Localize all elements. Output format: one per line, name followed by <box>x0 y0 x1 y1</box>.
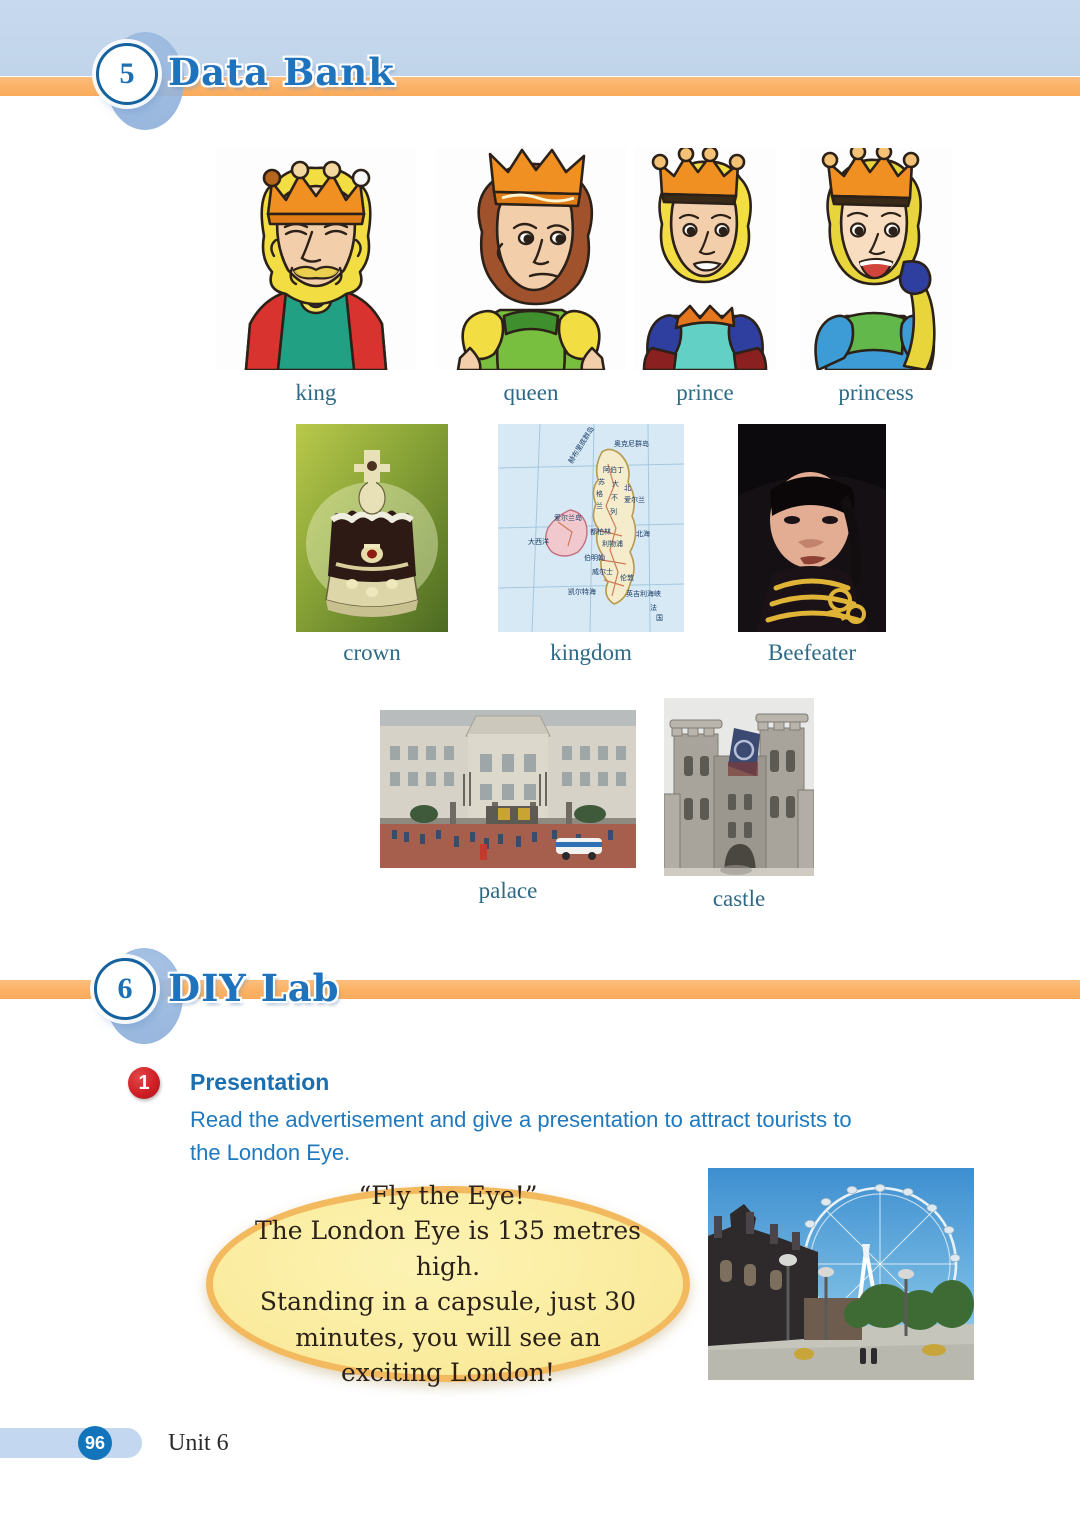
svg-text:国: 国 <box>656 614 663 622</box>
svg-text:北: 北 <box>624 484 631 492</box>
data-card-beefeater: Beefeater <box>738 424 886 632</box>
svg-text:大西洋: 大西洋 <box>528 537 549 546</box>
svg-text:格: 格 <box>596 489 603 498</box>
ad-line-4: minutes, you will see an <box>239 1320 657 1356</box>
section-header-diy-lab: 6 DIY Lab <box>0 940 1080 1040</box>
caption-queen: queen <box>436 380 626 406</box>
ad-line-5: exciting London! <box>239 1355 657 1391</box>
task-title-presentation: Presentation <box>190 1069 329 1096</box>
textbook-page: 5 Data Bank <box>0 0 1080 1526</box>
london-eye-photo <box>708 1168 974 1380</box>
ad-line-2: The London Eye is 135 metres high. <box>239 1213 657 1284</box>
caption-king: king <box>216 380 416 406</box>
london-eye-photo-frame <box>708 1168 974 1380</box>
princess-illustration <box>800 148 952 370</box>
section-title-diy-lab: DIY Lab <box>168 966 340 1010</box>
data-card-prince: prince <box>634 148 776 370</box>
svg-text:凯尔特海: 凯尔特海 <box>568 587 596 596</box>
kingdom-map-photo: 奥克尼群岛 赫布里底群岛 阿伯丁 苏大 格不 兰列 北爱尔兰 爱尔兰岛 都柏林 … <box>498 424 684 632</box>
svg-text:法: 法 <box>650 603 657 612</box>
data-card-palace: palace <box>380 710 636 868</box>
svg-text:不: 不 <box>611 494 618 502</box>
svg-text:英吉利海峡: 英吉利海峡 <box>626 589 661 598</box>
svg-text:威尔士: 威尔士 <box>592 567 613 576</box>
section-header-data-bank: 5 Data Bank <box>0 0 1080 96</box>
svg-text:利物浦: 利物浦 <box>602 539 623 548</box>
section-badge-5: 5 <box>96 43 158 105</box>
data-card-kingdom: 奥克尼群岛 赫布里底群岛 阿伯丁 苏大 格不 兰列 北爱尔兰 爱尔兰岛 都柏林 … <box>498 424 684 632</box>
svg-text:兰: 兰 <box>596 501 603 510</box>
caption-palace: palace <box>380 878 636 904</box>
svg-text:都柏林: 都柏林 <box>590 527 611 536</box>
caption-castle: castle <box>664 886 814 912</box>
footer-bar <box>0 1428 142 1458</box>
footer-unit-label: Unit 6 <box>168 1430 229 1457</box>
svg-text:阿伯丁: 阿伯丁 <box>603 465 624 474</box>
svg-text:爱尔兰岛: 爱尔兰岛 <box>554 513 582 522</box>
caption-kingdom: kingdom <box>498 640 684 666</box>
crown-photo <box>296 424 448 632</box>
task-instruction-line-1: Read the advertisement and give a presen… <box>190 1103 890 1137</box>
task-instruction-line-2: the London Eye. <box>190 1136 890 1170</box>
queen-illustration <box>436 148 626 370</box>
data-card-princess: princess <box>800 148 952 370</box>
palace-photo <box>380 710 636 868</box>
ad-line-1: “Fly the Eye!” <box>239 1178 657 1214</box>
castle-photo <box>664 698 814 876</box>
svg-text:北海: 北海 <box>636 529 650 538</box>
beefeater-photo <box>738 424 886 632</box>
caption-crown: crown <box>296 640 448 666</box>
data-card-castle: castle <box>664 698 814 876</box>
svg-text:奥克尼群岛: 奥克尼群岛 <box>614 439 649 448</box>
caption-beefeater: Beefeater <box>738 640 886 666</box>
data-card-crown: crown <box>296 424 448 632</box>
caption-princess: princess <box>800 380 952 406</box>
svg-text:大: 大 <box>612 479 619 488</box>
caption-prince: prince <box>634 380 776 406</box>
advertisement-text: “Fly the Eye!” The London Eye is 135 met… <box>213 1178 683 1391</box>
section-title-data-bank: Data Bank <box>168 50 395 94</box>
task-number-badge: 1 <box>128 1067 160 1099</box>
svg-text:伦敦: 伦敦 <box>620 573 634 582</box>
svg-text:爱尔兰: 爱尔兰 <box>624 495 645 504</box>
ad-line-3: Standing in a capsule, just 30 <box>239 1284 657 1320</box>
svg-text:列: 列 <box>610 507 617 516</box>
section-badge-6: 6 <box>94 958 156 1020</box>
svg-text:伯明翰: 伯明翰 <box>584 553 605 562</box>
page-number-badge: 96 <box>78 1426 112 1460</box>
svg-text:苏: 苏 <box>598 477 605 486</box>
king-illustration <box>216 148 416 370</box>
advertisement-bubble: “Fly the Eye!” The London Eye is 135 met… <box>206 1186 690 1382</box>
diy-task-1: 1 Presentation Read the advertisement an… <box>0 0 1080 1</box>
data-card-queen: queen <box>436 148 626 370</box>
data-card-king: king <box>216 148 416 370</box>
prince-illustration <box>634 148 776 370</box>
